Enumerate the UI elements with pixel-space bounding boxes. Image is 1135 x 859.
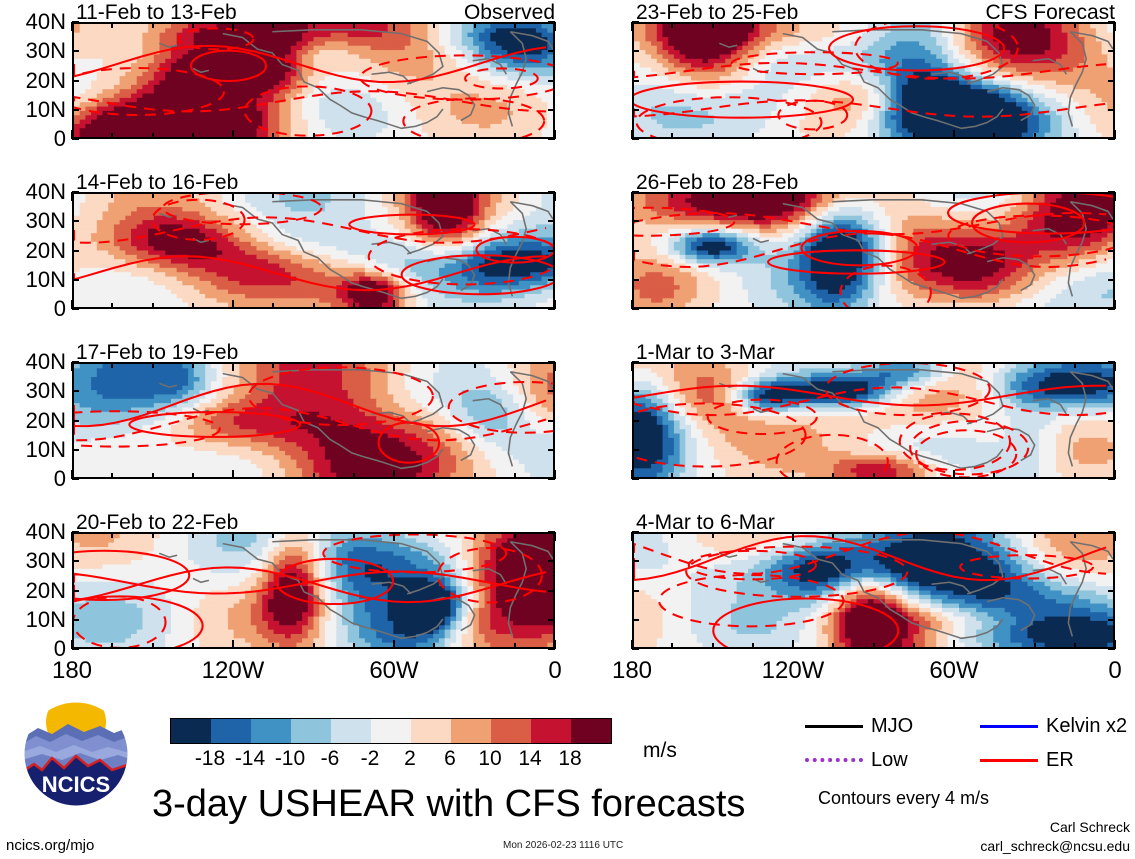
x-tick-mark bbox=[111, 362, 113, 368]
x-tick-mark bbox=[514, 532, 516, 538]
x-tick-mark bbox=[554, 300, 556, 309]
y-tick-mark bbox=[1108, 590, 1115, 592]
x-tick-mark bbox=[671, 362, 673, 368]
x-tick-mark bbox=[433, 192, 435, 198]
x-tick-mark bbox=[313, 473, 315, 479]
x-tick-mark bbox=[152, 133, 154, 139]
x-tick-mark bbox=[993, 303, 995, 309]
x-tick-mark bbox=[832, 22, 834, 28]
x-axis-label-right_column-180: 180 bbox=[587, 659, 677, 683]
y-axis-label-40N: 40N bbox=[4, 11, 66, 33]
x-tick-mark bbox=[111, 22, 113, 28]
y-axis-label-30N: 30N bbox=[4, 380, 66, 402]
x-tick-mark bbox=[111, 133, 113, 139]
x-tick-mark bbox=[111, 532, 113, 538]
x-tick-mark bbox=[514, 643, 516, 649]
x-tick-mark bbox=[313, 362, 315, 368]
x-tick-mark bbox=[712, 303, 714, 309]
y-tick-mark bbox=[72, 250, 79, 252]
colorbar-tick-14: 14 bbox=[508, 748, 552, 769]
x-tick-mark bbox=[232, 362, 234, 371]
x-tick-mark bbox=[993, 643, 995, 649]
x-tick-mark bbox=[752, 473, 754, 479]
y-tick-mark bbox=[72, 80, 79, 82]
x-tick-mark bbox=[832, 303, 834, 309]
x-tick-mark bbox=[1074, 133, 1076, 139]
x-tick-mark bbox=[232, 470, 234, 479]
x-tick-mark bbox=[993, 473, 995, 479]
x-tick-mark bbox=[752, 192, 754, 198]
x-tick-mark bbox=[313, 303, 315, 309]
x-tick-mark bbox=[1114, 640, 1116, 649]
x-tick-mark bbox=[393, 532, 395, 541]
map-field bbox=[634, 24, 1113, 137]
x-tick-mark bbox=[953, 300, 955, 309]
x-tick-mark bbox=[474, 303, 476, 309]
y-tick-mark bbox=[632, 390, 639, 392]
x-tick-mark bbox=[71, 130, 73, 139]
x-tick-mark bbox=[433, 643, 435, 649]
x-tick-mark bbox=[1114, 470, 1116, 479]
y-tick-mark bbox=[72, 138, 79, 140]
y-tick-mark bbox=[632, 279, 639, 281]
x-tick-mark bbox=[474, 532, 476, 538]
map-panel-right_column-0 bbox=[632, 22, 1115, 139]
colorbar-tick-6: 6 bbox=[428, 748, 472, 769]
panel-title-left_column-3: 20-Feb to 22-Feb bbox=[76, 512, 238, 533]
x-tick-mark bbox=[272, 133, 274, 139]
x-tick-mark bbox=[272, 192, 274, 198]
x-tick-mark bbox=[913, 473, 915, 479]
colorbar-swatch-6 bbox=[411, 719, 451, 743]
x-axis-label-right_column-120W: 120W bbox=[748, 659, 838, 683]
x-tick-mark bbox=[71, 22, 73, 31]
x-tick-mark bbox=[474, 22, 476, 28]
x-tick-mark bbox=[1074, 192, 1076, 198]
x-axis-label-right_column-60W: 60W bbox=[909, 659, 999, 683]
y-tick-mark bbox=[72, 220, 79, 222]
y-tick-mark bbox=[632, 138, 639, 140]
x-tick-mark bbox=[71, 192, 73, 201]
x-tick-mark bbox=[353, 22, 355, 28]
author-email[interactable]: carl_schreck@ncsu.edu bbox=[930, 838, 1130, 854]
x-tick-mark bbox=[913, 362, 915, 368]
x-tick-mark bbox=[393, 470, 395, 479]
colorbar-unit-label: m/s bbox=[643, 740, 677, 761]
y-tick-mark bbox=[632, 619, 639, 621]
y-tick-mark bbox=[632, 21, 639, 23]
y-tick-mark bbox=[632, 449, 639, 451]
x-tick-mark bbox=[393, 192, 395, 201]
map-field bbox=[74, 24, 553, 137]
x-tick-mark bbox=[873, 362, 875, 368]
legend-item-mjo: MJO bbox=[805, 716, 913, 736]
legend-label-kelvin: Kelvin x2 bbox=[1046, 716, 1127, 736]
x-tick-mark bbox=[712, 22, 714, 28]
y-tick-mark bbox=[632, 478, 639, 480]
y-tick-mark bbox=[1108, 109, 1115, 111]
x-tick-mark bbox=[554, 22, 556, 31]
y-axis-label-0: 0 bbox=[4, 468, 66, 490]
x-tick-mark bbox=[313, 133, 315, 139]
x-tick-mark bbox=[353, 192, 355, 198]
y-tick-mark bbox=[548, 590, 555, 592]
map-panel-left_column-0 bbox=[72, 22, 555, 139]
x-tick-mark bbox=[514, 22, 516, 28]
colorbar-tick--2: -2 bbox=[348, 748, 392, 769]
x-tick-mark bbox=[554, 640, 556, 649]
ncics-logo: NCICS bbox=[22, 700, 130, 808]
x-tick-mark bbox=[554, 362, 556, 371]
x-tick-mark bbox=[671, 133, 673, 139]
y-axis-label-30N: 30N bbox=[4, 210, 66, 232]
colorbar-swatch-9 bbox=[531, 719, 571, 743]
legend-item-low: Low bbox=[805, 750, 908, 770]
map-field bbox=[74, 194, 553, 307]
colorbar-tick--6: -6 bbox=[308, 748, 352, 769]
y-tick-mark bbox=[632, 648, 639, 650]
x-tick-mark bbox=[953, 362, 955, 371]
colorbar-tick-18: 18 bbox=[548, 748, 592, 769]
x-tick-mark bbox=[832, 362, 834, 368]
map-panel-right_column-1 bbox=[632, 192, 1115, 309]
colorbar-swatch-4 bbox=[331, 719, 371, 743]
colorbar-swatch-1 bbox=[211, 719, 251, 743]
x-tick-mark bbox=[792, 362, 794, 371]
y-tick-mark bbox=[632, 560, 639, 562]
x-tick-mark bbox=[192, 643, 194, 649]
legend-label-low: Low bbox=[871, 750, 908, 770]
x-tick-mark bbox=[953, 532, 955, 541]
x-tick-mark bbox=[474, 643, 476, 649]
figure-title: 3-day USHEAR with CFS forecasts bbox=[152, 785, 745, 823]
x-tick-mark bbox=[631, 130, 633, 139]
y-tick-mark bbox=[1108, 560, 1115, 562]
y-tick-mark bbox=[632, 361, 639, 363]
ncics-logo-graphic: NCICS bbox=[22, 700, 130, 808]
x-tick-mark bbox=[671, 303, 673, 309]
x-tick-mark bbox=[712, 133, 714, 139]
legend-line-kelvin bbox=[980, 725, 1038, 728]
x-tick-mark bbox=[474, 473, 476, 479]
x-tick-mark bbox=[873, 22, 875, 28]
x-tick-mark bbox=[192, 473, 194, 479]
x-tick-mark bbox=[1114, 300, 1116, 309]
y-tick-mark bbox=[72, 308, 79, 310]
x-tick-mark bbox=[313, 643, 315, 649]
y-tick-mark bbox=[1108, 250, 1115, 252]
x-tick-mark bbox=[554, 130, 556, 139]
x-tick-mark bbox=[792, 300, 794, 309]
y-tick-mark bbox=[72, 390, 79, 392]
y-tick-mark bbox=[548, 560, 555, 562]
x-tick-mark bbox=[1114, 22, 1116, 31]
x-axis-label-right_column-0: 0 bbox=[1070, 659, 1135, 683]
x-axis-label-left_column-180: 180 bbox=[27, 659, 117, 683]
x-tick-mark bbox=[873, 303, 875, 309]
x-tick-mark bbox=[792, 640, 794, 649]
x-tick-mark bbox=[712, 362, 714, 368]
x-tick-mark bbox=[313, 192, 315, 198]
x-tick-mark bbox=[272, 532, 274, 538]
y-tick-mark bbox=[632, 531, 639, 533]
x-tick-mark bbox=[1034, 473, 1036, 479]
x-tick-mark bbox=[152, 192, 154, 198]
map-panel-left_column-3 bbox=[72, 532, 555, 649]
x-tick-mark bbox=[1114, 362, 1116, 371]
legend-line-mjo bbox=[805, 725, 863, 728]
x-tick-mark bbox=[671, 643, 673, 649]
x-tick-mark bbox=[71, 300, 73, 309]
x-tick-mark bbox=[152, 473, 154, 479]
x-tick-mark bbox=[1074, 303, 1076, 309]
y-tick-mark bbox=[72, 449, 79, 451]
x-tick-mark bbox=[993, 532, 995, 538]
y-tick-mark bbox=[632, 80, 639, 82]
y-tick-mark bbox=[632, 191, 639, 193]
colorbar-tick--14: -14 bbox=[228, 748, 272, 769]
x-tick-mark bbox=[272, 362, 274, 368]
x-tick-mark bbox=[272, 303, 274, 309]
legend-item-er: ER bbox=[980, 750, 1074, 770]
x-tick-mark bbox=[353, 473, 355, 479]
y-tick-mark bbox=[1108, 220, 1115, 222]
x-tick-mark bbox=[913, 532, 915, 538]
x-tick-mark bbox=[232, 300, 234, 309]
x-tick-mark bbox=[232, 532, 234, 541]
y-tick-mark bbox=[548, 279, 555, 281]
y-tick-mark bbox=[72, 420, 79, 422]
y-tick-mark bbox=[548, 220, 555, 222]
panel-title-right_column-1: 26-Feb to 28-Feb bbox=[636, 172, 798, 193]
x-tick-mark bbox=[1034, 133, 1036, 139]
x-tick-mark bbox=[873, 532, 875, 538]
x-tick-mark bbox=[554, 470, 556, 479]
x-tick-mark bbox=[993, 22, 995, 28]
x-tick-mark bbox=[554, 192, 556, 201]
x-tick-mark bbox=[71, 362, 73, 371]
colorbar-tick--18: -18 bbox=[188, 748, 232, 769]
x-tick-mark bbox=[832, 643, 834, 649]
x-tick-mark bbox=[913, 133, 915, 139]
y-axis-label-30N: 30N bbox=[4, 550, 66, 572]
x-tick-mark bbox=[792, 22, 794, 31]
x-tick-mark bbox=[313, 532, 315, 538]
map-field bbox=[634, 534, 1113, 647]
x-tick-mark bbox=[792, 192, 794, 201]
x-tick-mark bbox=[1114, 192, 1116, 201]
x-tick-mark bbox=[953, 130, 955, 139]
x-tick-mark bbox=[554, 532, 556, 541]
x-tick-mark bbox=[631, 470, 633, 479]
y-tick-mark bbox=[632, 50, 639, 52]
y-tick-mark bbox=[1108, 80, 1115, 82]
x-tick-mark bbox=[433, 22, 435, 28]
y-tick-mark bbox=[72, 109, 79, 111]
y-axis-label-10N: 10N bbox=[4, 99, 66, 121]
y-tick-mark bbox=[72, 21, 79, 23]
y-tick-mark bbox=[72, 279, 79, 281]
x-tick-mark bbox=[232, 22, 234, 31]
y-tick-mark bbox=[72, 191, 79, 193]
x-tick-mark bbox=[152, 362, 154, 368]
x-tick-mark bbox=[192, 133, 194, 139]
x-tick-mark bbox=[752, 532, 754, 538]
x-tick-mark bbox=[671, 192, 673, 198]
x-tick-mark bbox=[1074, 643, 1076, 649]
x-tick-mark bbox=[631, 362, 633, 371]
x-tick-mark bbox=[353, 133, 355, 139]
x-tick-mark bbox=[1034, 643, 1036, 649]
y-axis-label-40N: 40N bbox=[4, 521, 66, 543]
y-axis-label-20N: 20N bbox=[4, 410, 66, 432]
x-tick-mark bbox=[1034, 303, 1036, 309]
y-tick-mark bbox=[72, 50, 79, 52]
y-tick-mark bbox=[1108, 279, 1115, 281]
colorbar-swatches bbox=[170, 718, 612, 744]
panel-title-left_column-1: 14-Feb to 16-Feb bbox=[76, 172, 238, 193]
x-tick-mark bbox=[71, 470, 73, 479]
x-tick-mark bbox=[953, 640, 955, 649]
legend-label-mjo: MJO bbox=[871, 716, 913, 736]
x-tick-mark bbox=[873, 473, 875, 479]
panel-title-left_column-2: 17-Feb to 19-Feb bbox=[76, 342, 238, 363]
colorbar-swatch-3 bbox=[291, 719, 331, 743]
x-tick-mark bbox=[953, 470, 955, 479]
legend-label-er: ER bbox=[1046, 750, 1074, 770]
x-tick-mark bbox=[474, 133, 476, 139]
y-tick-mark bbox=[72, 648, 79, 650]
x-tick-mark bbox=[232, 640, 234, 649]
x-tick-mark bbox=[832, 133, 834, 139]
colorbar: -18-14-10-6-226101418 bbox=[170, 718, 630, 778]
x-tick-mark bbox=[953, 192, 955, 201]
y-tick-mark bbox=[72, 590, 79, 592]
map-panel-right_column-3 bbox=[632, 532, 1115, 649]
x-tick-mark bbox=[433, 532, 435, 538]
x-tick-mark bbox=[913, 192, 915, 198]
x-tick-mark bbox=[1034, 192, 1036, 198]
x-tick-mark bbox=[152, 532, 154, 538]
x-tick-mark bbox=[232, 192, 234, 201]
map-field bbox=[634, 194, 1113, 307]
x-tick-mark bbox=[993, 362, 995, 368]
x-tick-mark bbox=[192, 532, 194, 538]
x-tick-mark bbox=[433, 303, 435, 309]
y-tick-mark bbox=[632, 308, 639, 310]
map-panel-right_column-2 bbox=[632, 362, 1115, 479]
x-tick-mark bbox=[913, 643, 915, 649]
x-tick-mark bbox=[433, 133, 435, 139]
x-tick-mark bbox=[474, 362, 476, 368]
panel-title-right_column-2: 1-Mar to 3-Mar bbox=[636, 342, 775, 363]
x-axis-label-left_column-60W: 60W bbox=[349, 659, 439, 683]
x-tick-mark bbox=[1114, 130, 1116, 139]
x-tick-mark bbox=[111, 303, 113, 309]
y-axis-label-10N: 10N bbox=[4, 269, 66, 291]
x-tick-mark bbox=[192, 22, 194, 28]
colorbar-swatch-2 bbox=[251, 719, 291, 743]
x-tick-mark bbox=[832, 192, 834, 198]
x-tick-mark bbox=[631, 532, 633, 541]
legend-line-er bbox=[980, 759, 1038, 762]
y-tick-mark bbox=[548, 449, 555, 451]
x-tick-mark bbox=[111, 192, 113, 198]
y-tick-mark bbox=[72, 560, 79, 562]
y-tick-mark bbox=[1108, 619, 1115, 621]
x-tick-mark bbox=[353, 643, 355, 649]
x-tick-mark bbox=[111, 643, 113, 649]
y-tick-mark bbox=[72, 531, 79, 533]
site-url[interactable]: ncics.org/mjo bbox=[6, 838, 94, 853]
x-tick-mark bbox=[712, 643, 714, 649]
x-tick-mark bbox=[1034, 532, 1036, 538]
x-tick-mark bbox=[514, 473, 516, 479]
colorbar-swatch-10 bbox=[571, 719, 611, 743]
map-field bbox=[634, 364, 1113, 477]
x-tick-mark bbox=[631, 640, 633, 649]
y-axis-label-20N: 20N bbox=[4, 240, 66, 262]
contour-legend: MJO Kelvin x2 Low ER bbox=[805, 716, 1135, 776]
colorbar-swatch-0 bbox=[171, 719, 211, 743]
x-tick-mark bbox=[71, 532, 73, 541]
x-tick-mark bbox=[671, 22, 673, 28]
colorbar-swatch-8 bbox=[491, 719, 531, 743]
x-tick-mark bbox=[1074, 532, 1076, 538]
legend-line-low bbox=[805, 758, 863, 762]
x-tick-mark bbox=[353, 362, 355, 368]
x-tick-mark bbox=[752, 362, 754, 368]
x-tick-mark bbox=[832, 473, 834, 479]
x-tick-mark bbox=[1114, 532, 1116, 541]
x-tick-mark bbox=[792, 130, 794, 139]
column-header-cfs-forecast: CFS Forecast bbox=[632, 2, 1115, 23]
x-tick-mark bbox=[71, 640, 73, 649]
x-tick-mark bbox=[1074, 473, 1076, 479]
x-tick-mark bbox=[474, 192, 476, 198]
x-tick-mark bbox=[752, 22, 754, 28]
x-tick-mark bbox=[832, 532, 834, 538]
y-tick-mark bbox=[72, 619, 79, 621]
y-tick-mark bbox=[1108, 420, 1115, 422]
colorbar-swatch-5 bbox=[371, 719, 411, 743]
y-tick-mark bbox=[1108, 390, 1115, 392]
x-tick-mark bbox=[1034, 362, 1036, 368]
author-name: Carl Schreck bbox=[930, 819, 1130, 835]
y-tick-mark bbox=[548, 50, 555, 52]
x-tick-mark bbox=[514, 192, 516, 198]
panel-grid: 11-Feb to 13-FebObserved40N30N20N10N014-… bbox=[0, 0, 1135, 690]
x-tick-mark bbox=[913, 22, 915, 28]
x-axis-label-left_column-120W: 120W bbox=[188, 659, 278, 683]
y-axis-label-40N: 40N bbox=[4, 181, 66, 203]
map-panel-left_column-2 bbox=[72, 362, 555, 479]
x-tick-mark bbox=[433, 362, 435, 368]
y-tick-mark bbox=[632, 109, 639, 111]
x-tick-mark bbox=[393, 22, 395, 31]
x-tick-mark bbox=[752, 133, 754, 139]
x-tick-mark bbox=[192, 192, 194, 198]
x-tick-mark bbox=[671, 532, 673, 538]
x-tick-mark bbox=[1074, 22, 1076, 28]
colorbar-tick-10: 10 bbox=[468, 748, 512, 769]
x-tick-mark bbox=[393, 130, 395, 139]
y-tick-mark bbox=[548, 420, 555, 422]
y-tick-mark bbox=[632, 420, 639, 422]
x-tick-mark bbox=[913, 303, 915, 309]
x-tick-mark bbox=[873, 133, 875, 139]
y-tick-mark bbox=[548, 80, 555, 82]
